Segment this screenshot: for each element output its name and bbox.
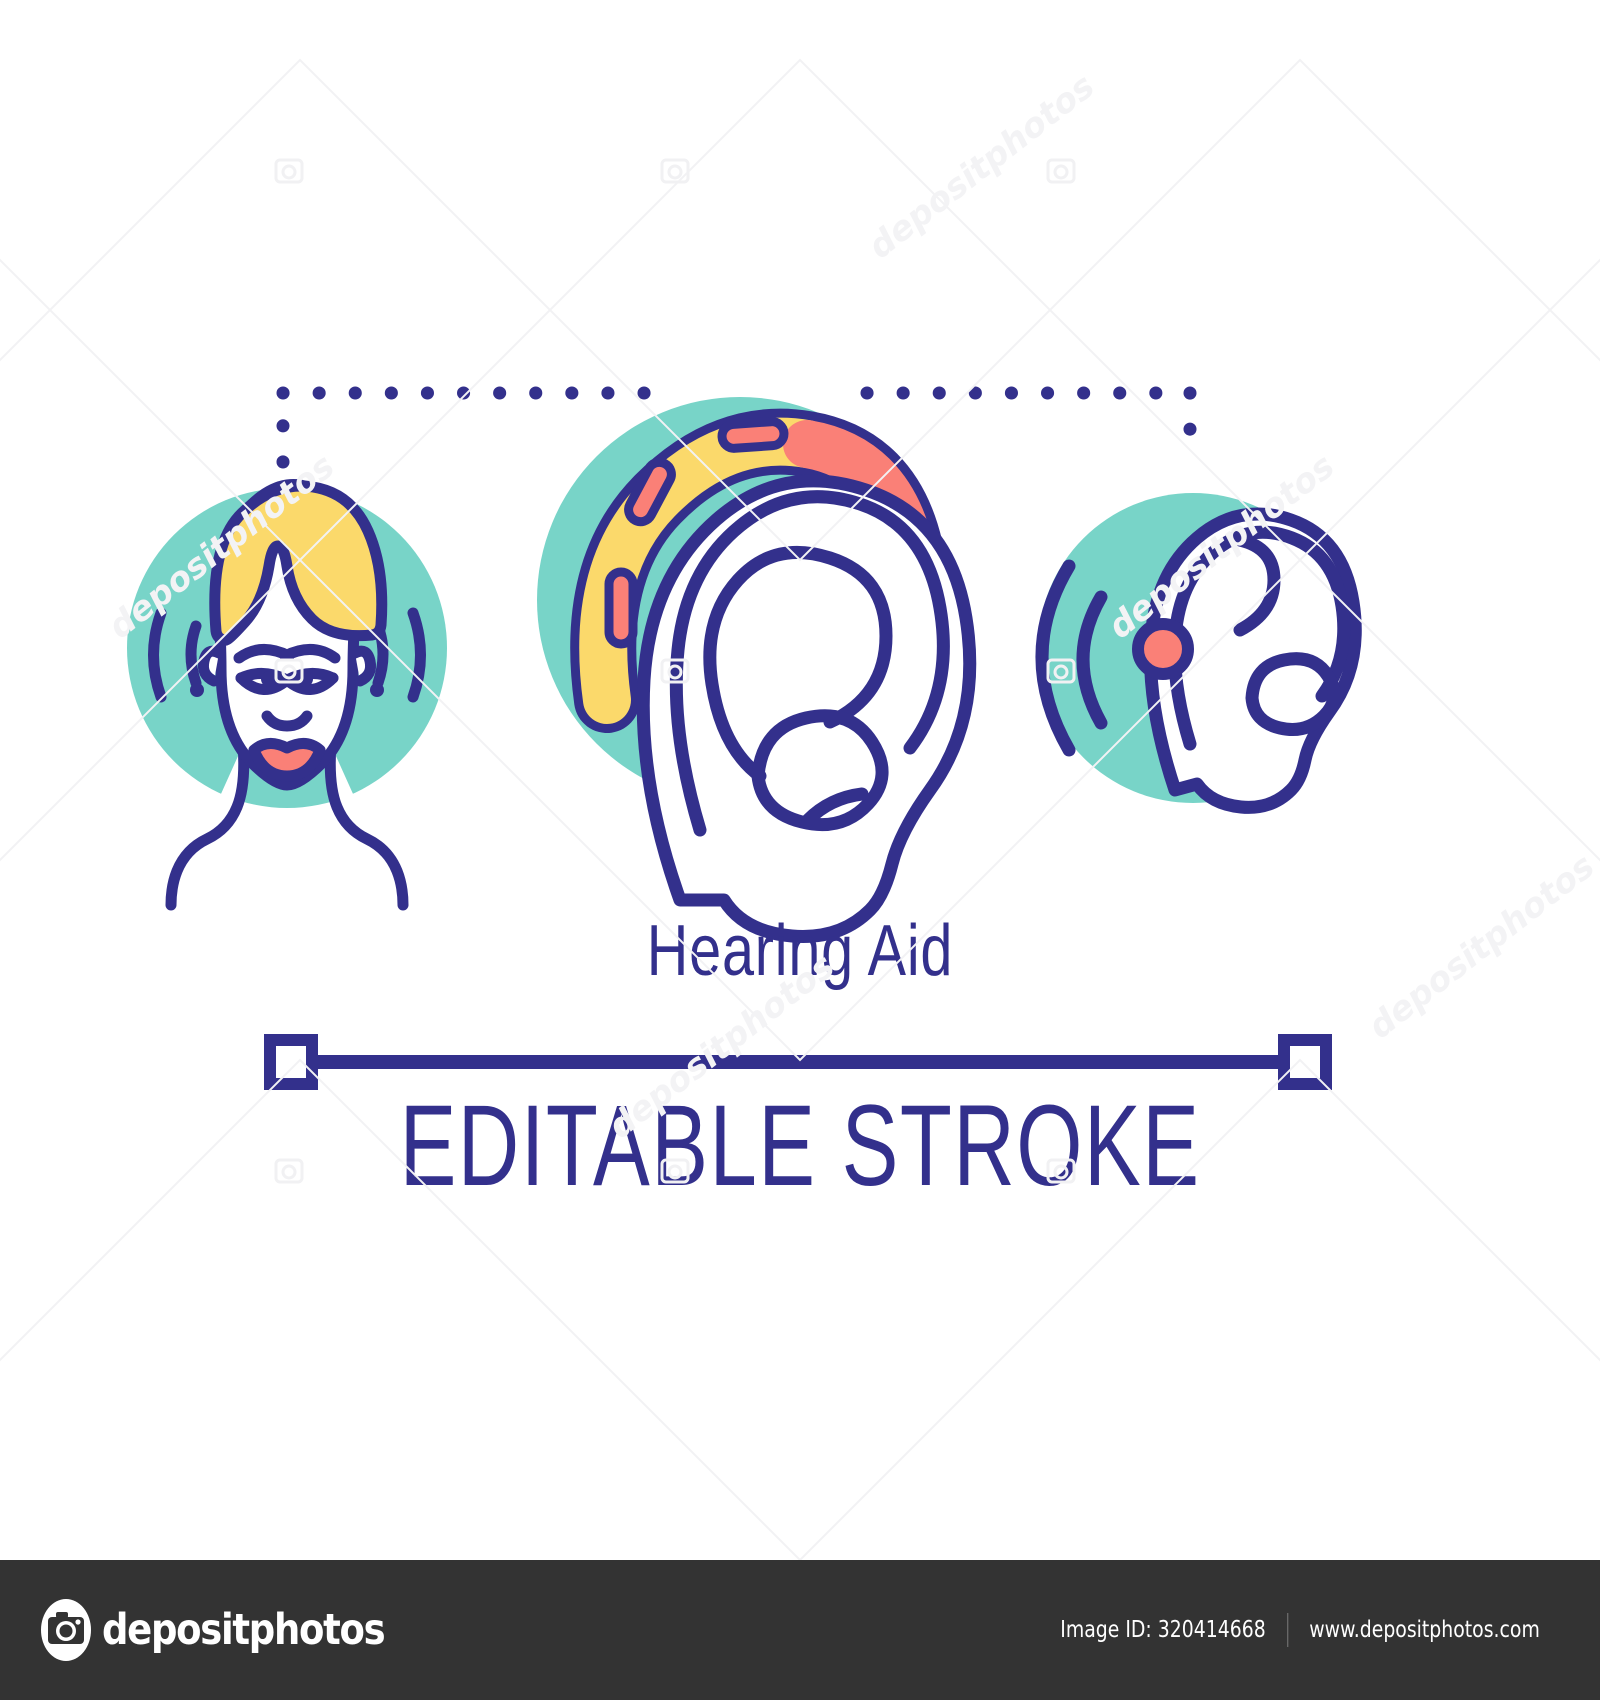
image-id-label: Image ID: 320414668 (1060, 1617, 1287, 1643)
sound-wave-dot-right (370, 683, 384, 697)
concept-icon-artboard: Hearing Aid EDITABLE STROKE (0, 0, 1600, 1560)
rule-handle-left[interactable] (270, 1040, 312, 1084)
brand-wordmark: depositphotos (102, 1609, 384, 1652)
concept-icon-svg: Hearing Aid EDITABLE STROKE (0, 0, 1600, 1560)
website-link[interactable]: www.depositphotos.com (1288, 1617, 1540, 1643)
in-ear-device-dot (1138, 624, 1188, 674)
sound-wave-dot-left (190, 683, 204, 697)
camera-icon (40, 1598, 92, 1662)
depositphotos-logo[interactable]: depositphotos (40, 1598, 430, 1662)
editable-stroke-label: EDITABLE STROKE (400, 1082, 1201, 1210)
woman-lips (254, 743, 320, 776)
depositphotos-footer-bar: depositphotos Image ID: 320414668 www.de… (0, 1560, 1600, 1700)
rule-handle-right[interactable] (1284, 1040, 1326, 1084)
screenshot-root: Hearing Aid EDITABLE STROKE depositphoto… (0, 0, 1600, 1700)
footer-meta: Image ID: 320414668 www.depositphotos.co… (1060, 1613, 1540, 1647)
concept-title: Hearing Aid (647, 910, 954, 991)
